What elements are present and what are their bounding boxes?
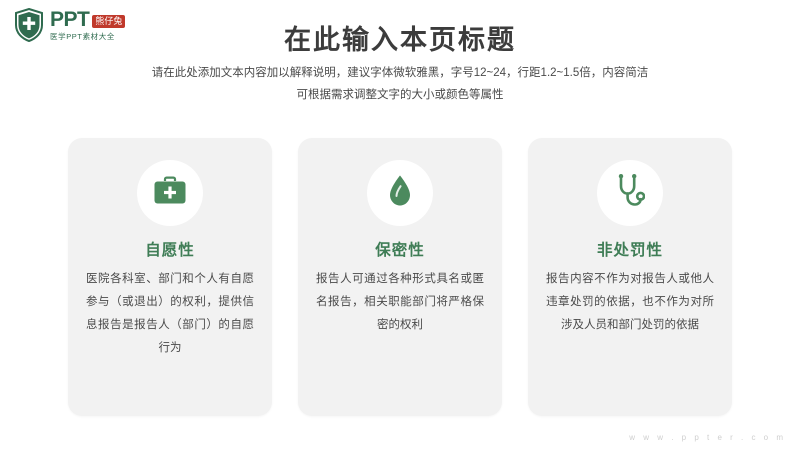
card-body: 报告人可通过各种形式具名或匿名报告，相关职能部门将严格保密的权利 bbox=[316, 268, 484, 337]
icon-circle bbox=[597, 160, 663, 226]
card-title: 保密性 bbox=[298, 238, 502, 260]
water-drop-icon bbox=[387, 174, 413, 213]
icon-circle bbox=[137, 160, 203, 226]
first-aid-kit-icon bbox=[153, 176, 187, 211]
card-confidential[interactable]: 保密性 报告人可通过各种形式具名或匿名报告，相关职能部门将严格保密的权利 bbox=[298, 138, 502, 416]
card-title: 自愿性 bbox=[68, 238, 272, 260]
subtitle-line-1: 请在此处添加文本内容加以解释说明，建议字体微软雅黑，字号12~24，行距1.2~… bbox=[0, 63, 800, 85]
page-title: 在此输入本页标题 bbox=[0, 18, 800, 57]
card-voluntary[interactable]: 自愿性 医院各科室、部门和个人有自愿参与（或退出）的权利，提供信息报告是报告人（… bbox=[68, 138, 272, 416]
stethoscope-icon bbox=[615, 174, 645, 213]
card-title: 非处罚性 bbox=[528, 238, 732, 260]
icon-circle bbox=[367, 160, 433, 226]
card-list: 自愿性 医院各科室、部门和个人有自愿参与（或退出）的权利，提供信息报告是报告人（… bbox=[0, 138, 800, 416]
page-subtitle: 请在此处添加文本内容加以解释说明，建议字体微软雅黑，字号12~24，行距1.2~… bbox=[0, 63, 800, 107]
card-body: 医院各科室、部门和个人有自愿参与（或退出）的权利，提供信息报告是报告人（部门）的… bbox=[86, 268, 254, 360]
footer-watermark: w w w . p p t e r . c o m bbox=[629, 433, 786, 442]
subtitle-line-2: 可根据需求调整文字的大小或颜色等属性 bbox=[0, 85, 800, 107]
card-non-punitive[interactable]: 非处罚性 报告内容不作为对报告人或他人违章处罚的依据，也不作为对所涉及人员和部门… bbox=[528, 138, 732, 416]
card-body: 报告内容不作为对报告人或他人违章处罚的依据，也不作为对所涉及人员和部门处罚的依据 bbox=[546, 268, 714, 337]
